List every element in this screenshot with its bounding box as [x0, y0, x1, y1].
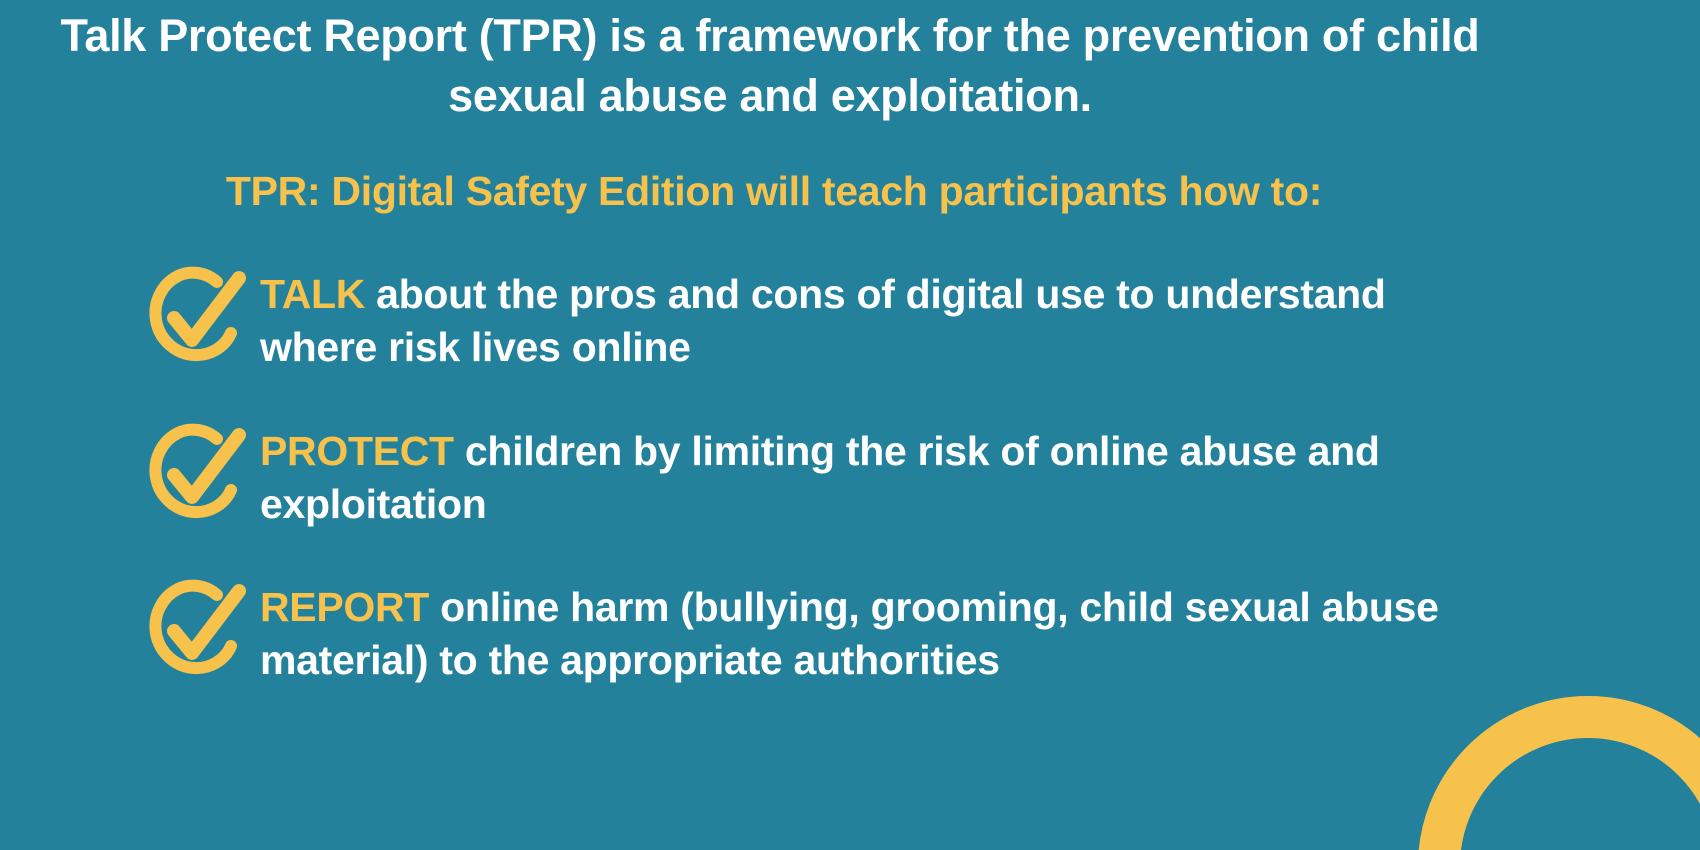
circle-check-icon [140, 264, 250, 368]
list-item-keyword: REPORT [260, 584, 429, 630]
list-item-keyword: PROTECT [260, 428, 454, 474]
subheadline: TPR: Digital Safety Edition will teach p… [0, 166, 1548, 217]
subheadline-block: TPR: Digital Safety Edition will teach p… [0, 166, 1548, 217]
list-item-text: TALK about the pros and cons of digital … [260, 258, 1450, 375]
circle-check-icon [140, 577, 250, 681]
list-item-body: online harm (bullying, grooming, child s… [260, 584, 1439, 683]
list-item-text: PROTECT children by limiting the risk of… [260, 415, 1450, 532]
list-item: TALK about the pros and cons of digital … [140, 258, 1450, 375]
headline-block: Talk Protect Report (TPR) is a framework… [0, 6, 1540, 126]
list-item-body: about the pros and cons of digital use t… [260, 271, 1386, 370]
poster-canvas: Talk Protect Report (TPR) is a framework… [0, 0, 1700, 850]
list-item-text: REPORT online harm (bullying, grooming, … [260, 571, 1450, 688]
bullet-list: TALK about the pros and cons of digital … [140, 258, 1450, 688]
circle-check-icon [140, 421, 250, 525]
yellow-ring-decoration [1418, 696, 1700, 850]
page-title: Talk Protect Report (TPR) is a framework… [0, 6, 1540, 126]
list-item-keyword: TALK [260, 271, 365, 317]
list-item: REPORT online harm (bullying, grooming, … [140, 571, 1450, 688]
list-item: PROTECT children by limiting the risk of… [140, 415, 1450, 532]
